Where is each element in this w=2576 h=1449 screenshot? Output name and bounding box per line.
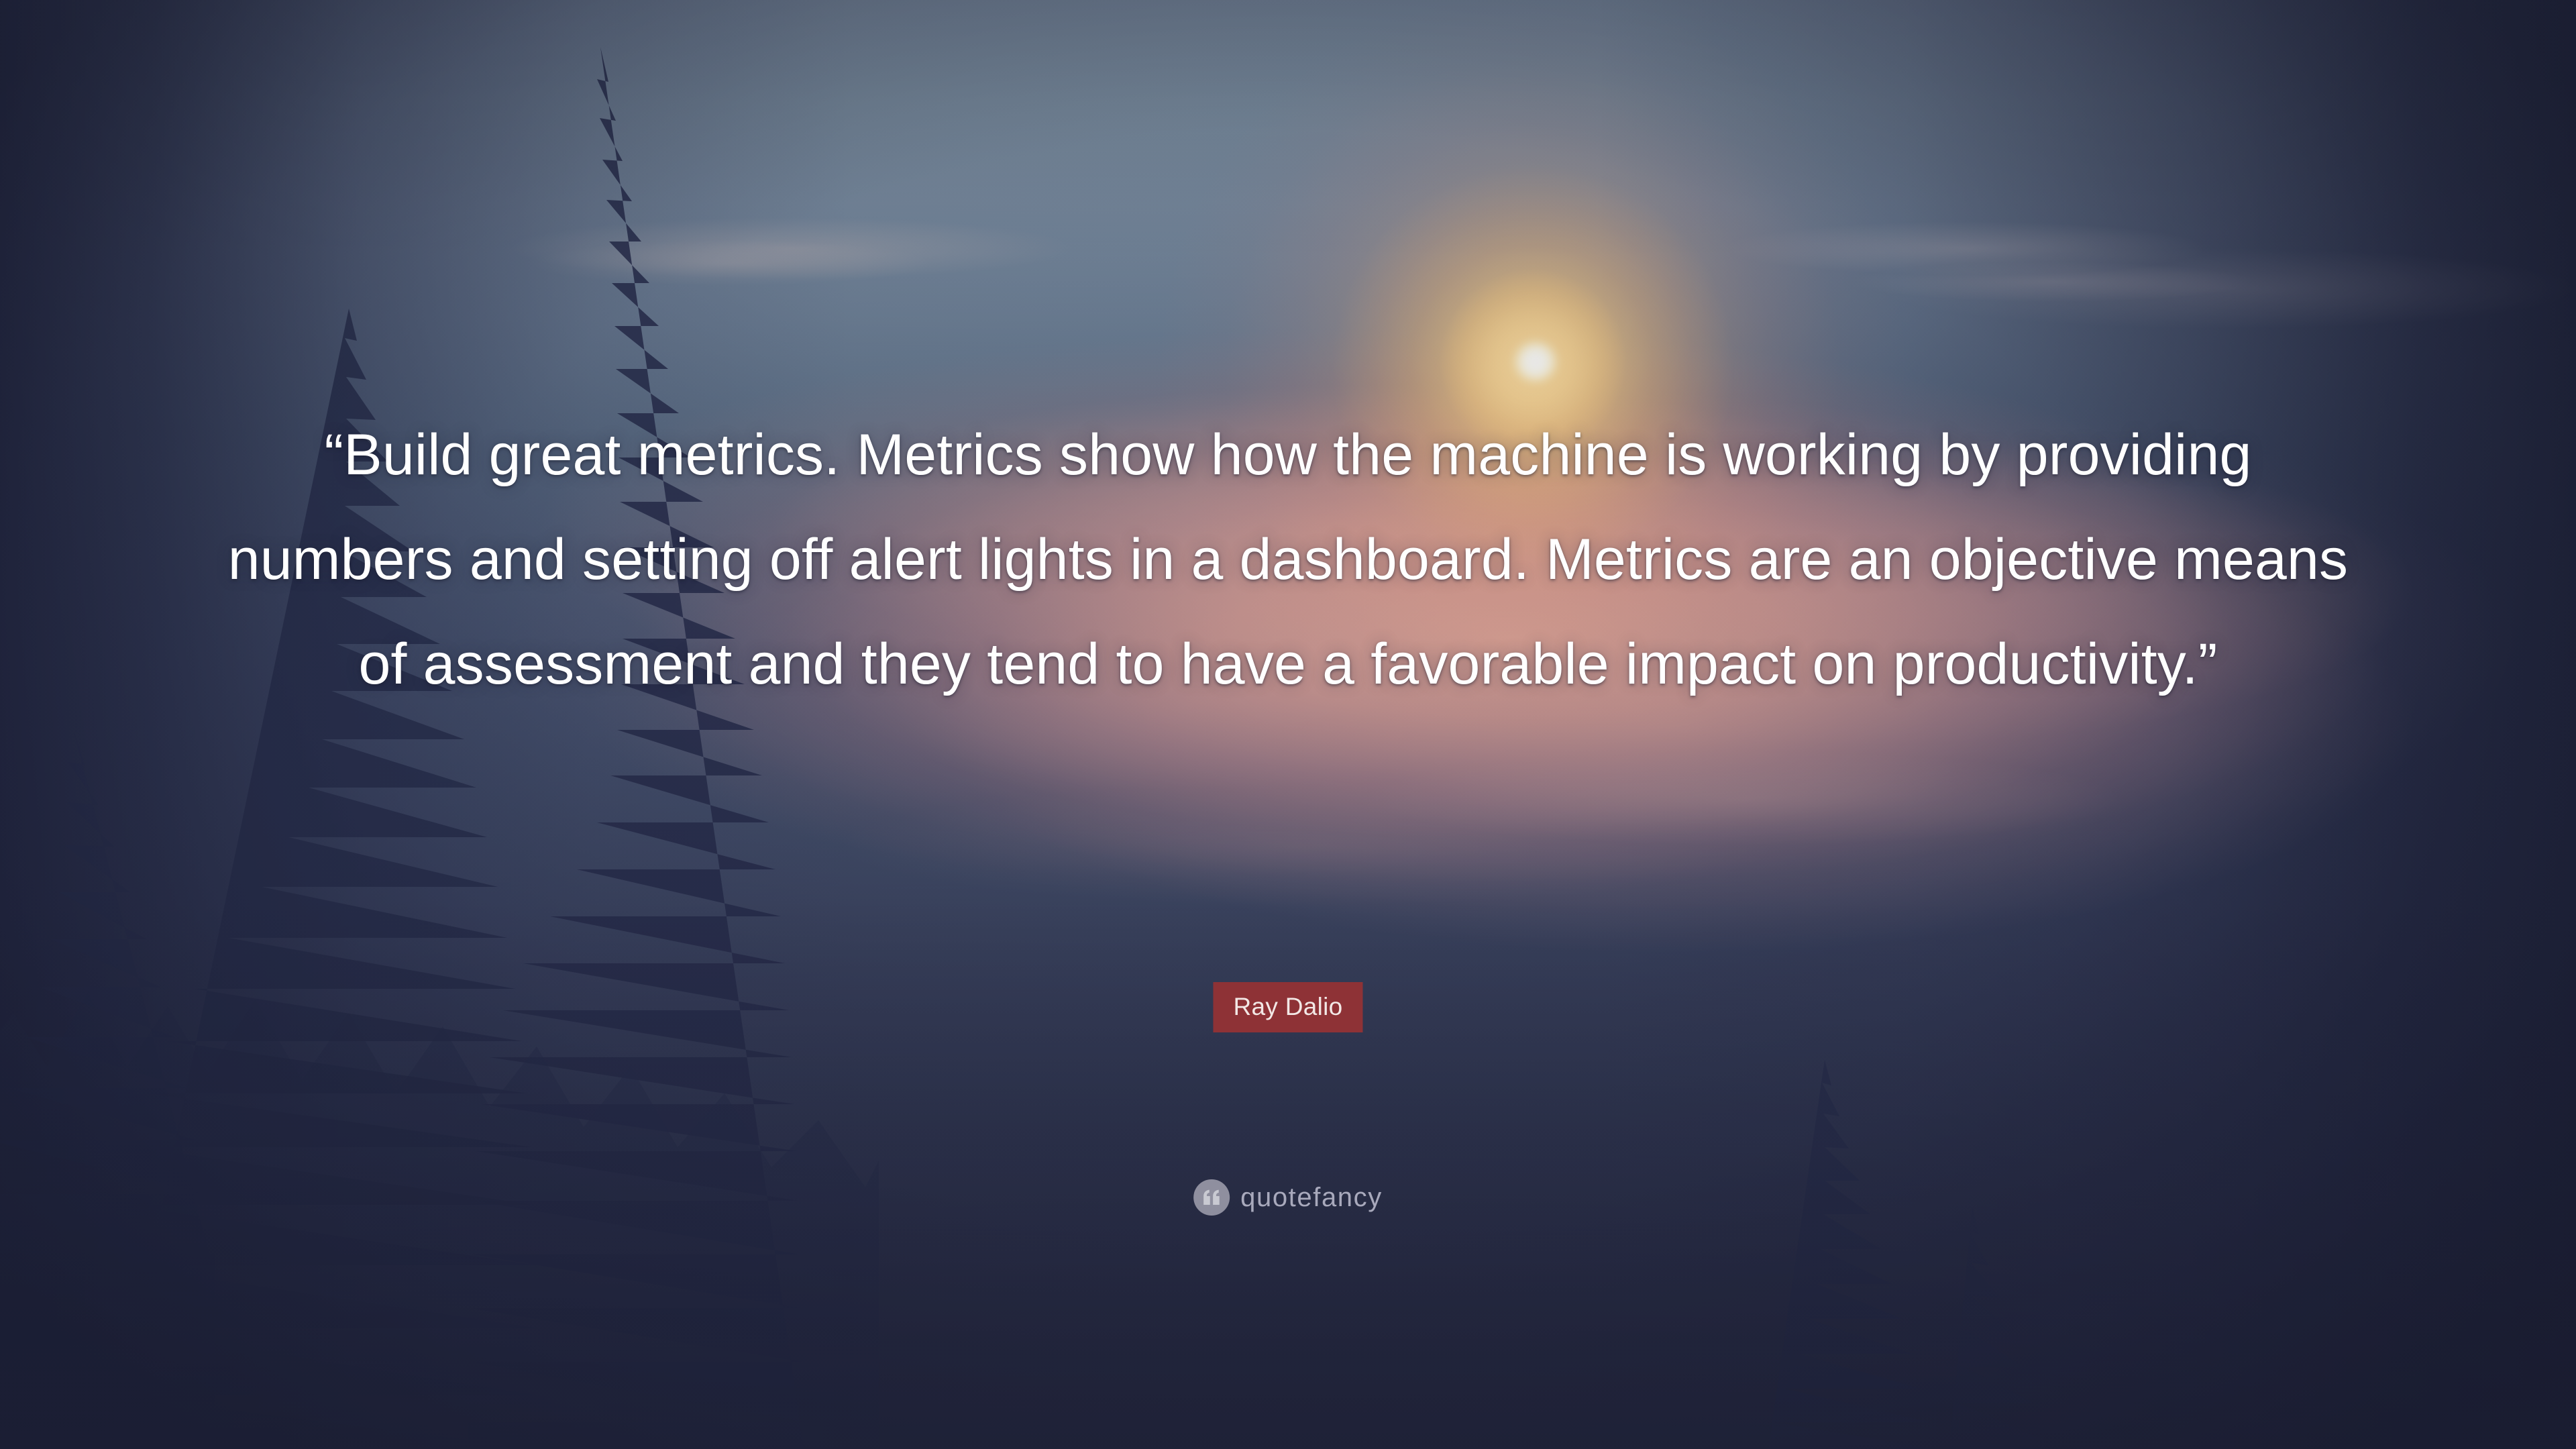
- sun-icon: [1515, 342, 1556, 381]
- quotefancy-wordmark: quotefancy: [1240, 1184, 1383, 1211]
- cloud-streaks-layer: [0, 0, 2576, 1449]
- conifer-silhouette-right: [1724, 1046, 2194, 1449]
- quote-text: “Build great metrics. Metrics show how t…: [0, 402, 2576, 716]
- sky-gradient-layer: [0, 0, 2576, 1449]
- quote-wallpaper: “Build great metrics. Metrics show how t…: [0, 0, 2576, 1449]
- color-tint-layer: [0, 0, 2576, 1449]
- quote-mark-icon: [1193, 1179, 1230, 1216]
- sky-side-shading-layer: [0, 0, 2576, 1449]
- cloud-bank-layer: [0, 0, 2576, 1449]
- author-badge[interactable]: Ray Dalio: [1213, 982, 1362, 1032]
- quotefancy-watermark[interactable]: quotefancy: [1193, 1179, 1383, 1216]
- conifer-silhouette-left: [0, 20, 879, 1449]
- vignette-layer: [0, 0, 2576, 1449]
- quote-block: “Build great metrics. Metrics show how t…: [0, 402, 2576, 716]
- sun-halo-layer: [0, 0, 2576, 1449]
